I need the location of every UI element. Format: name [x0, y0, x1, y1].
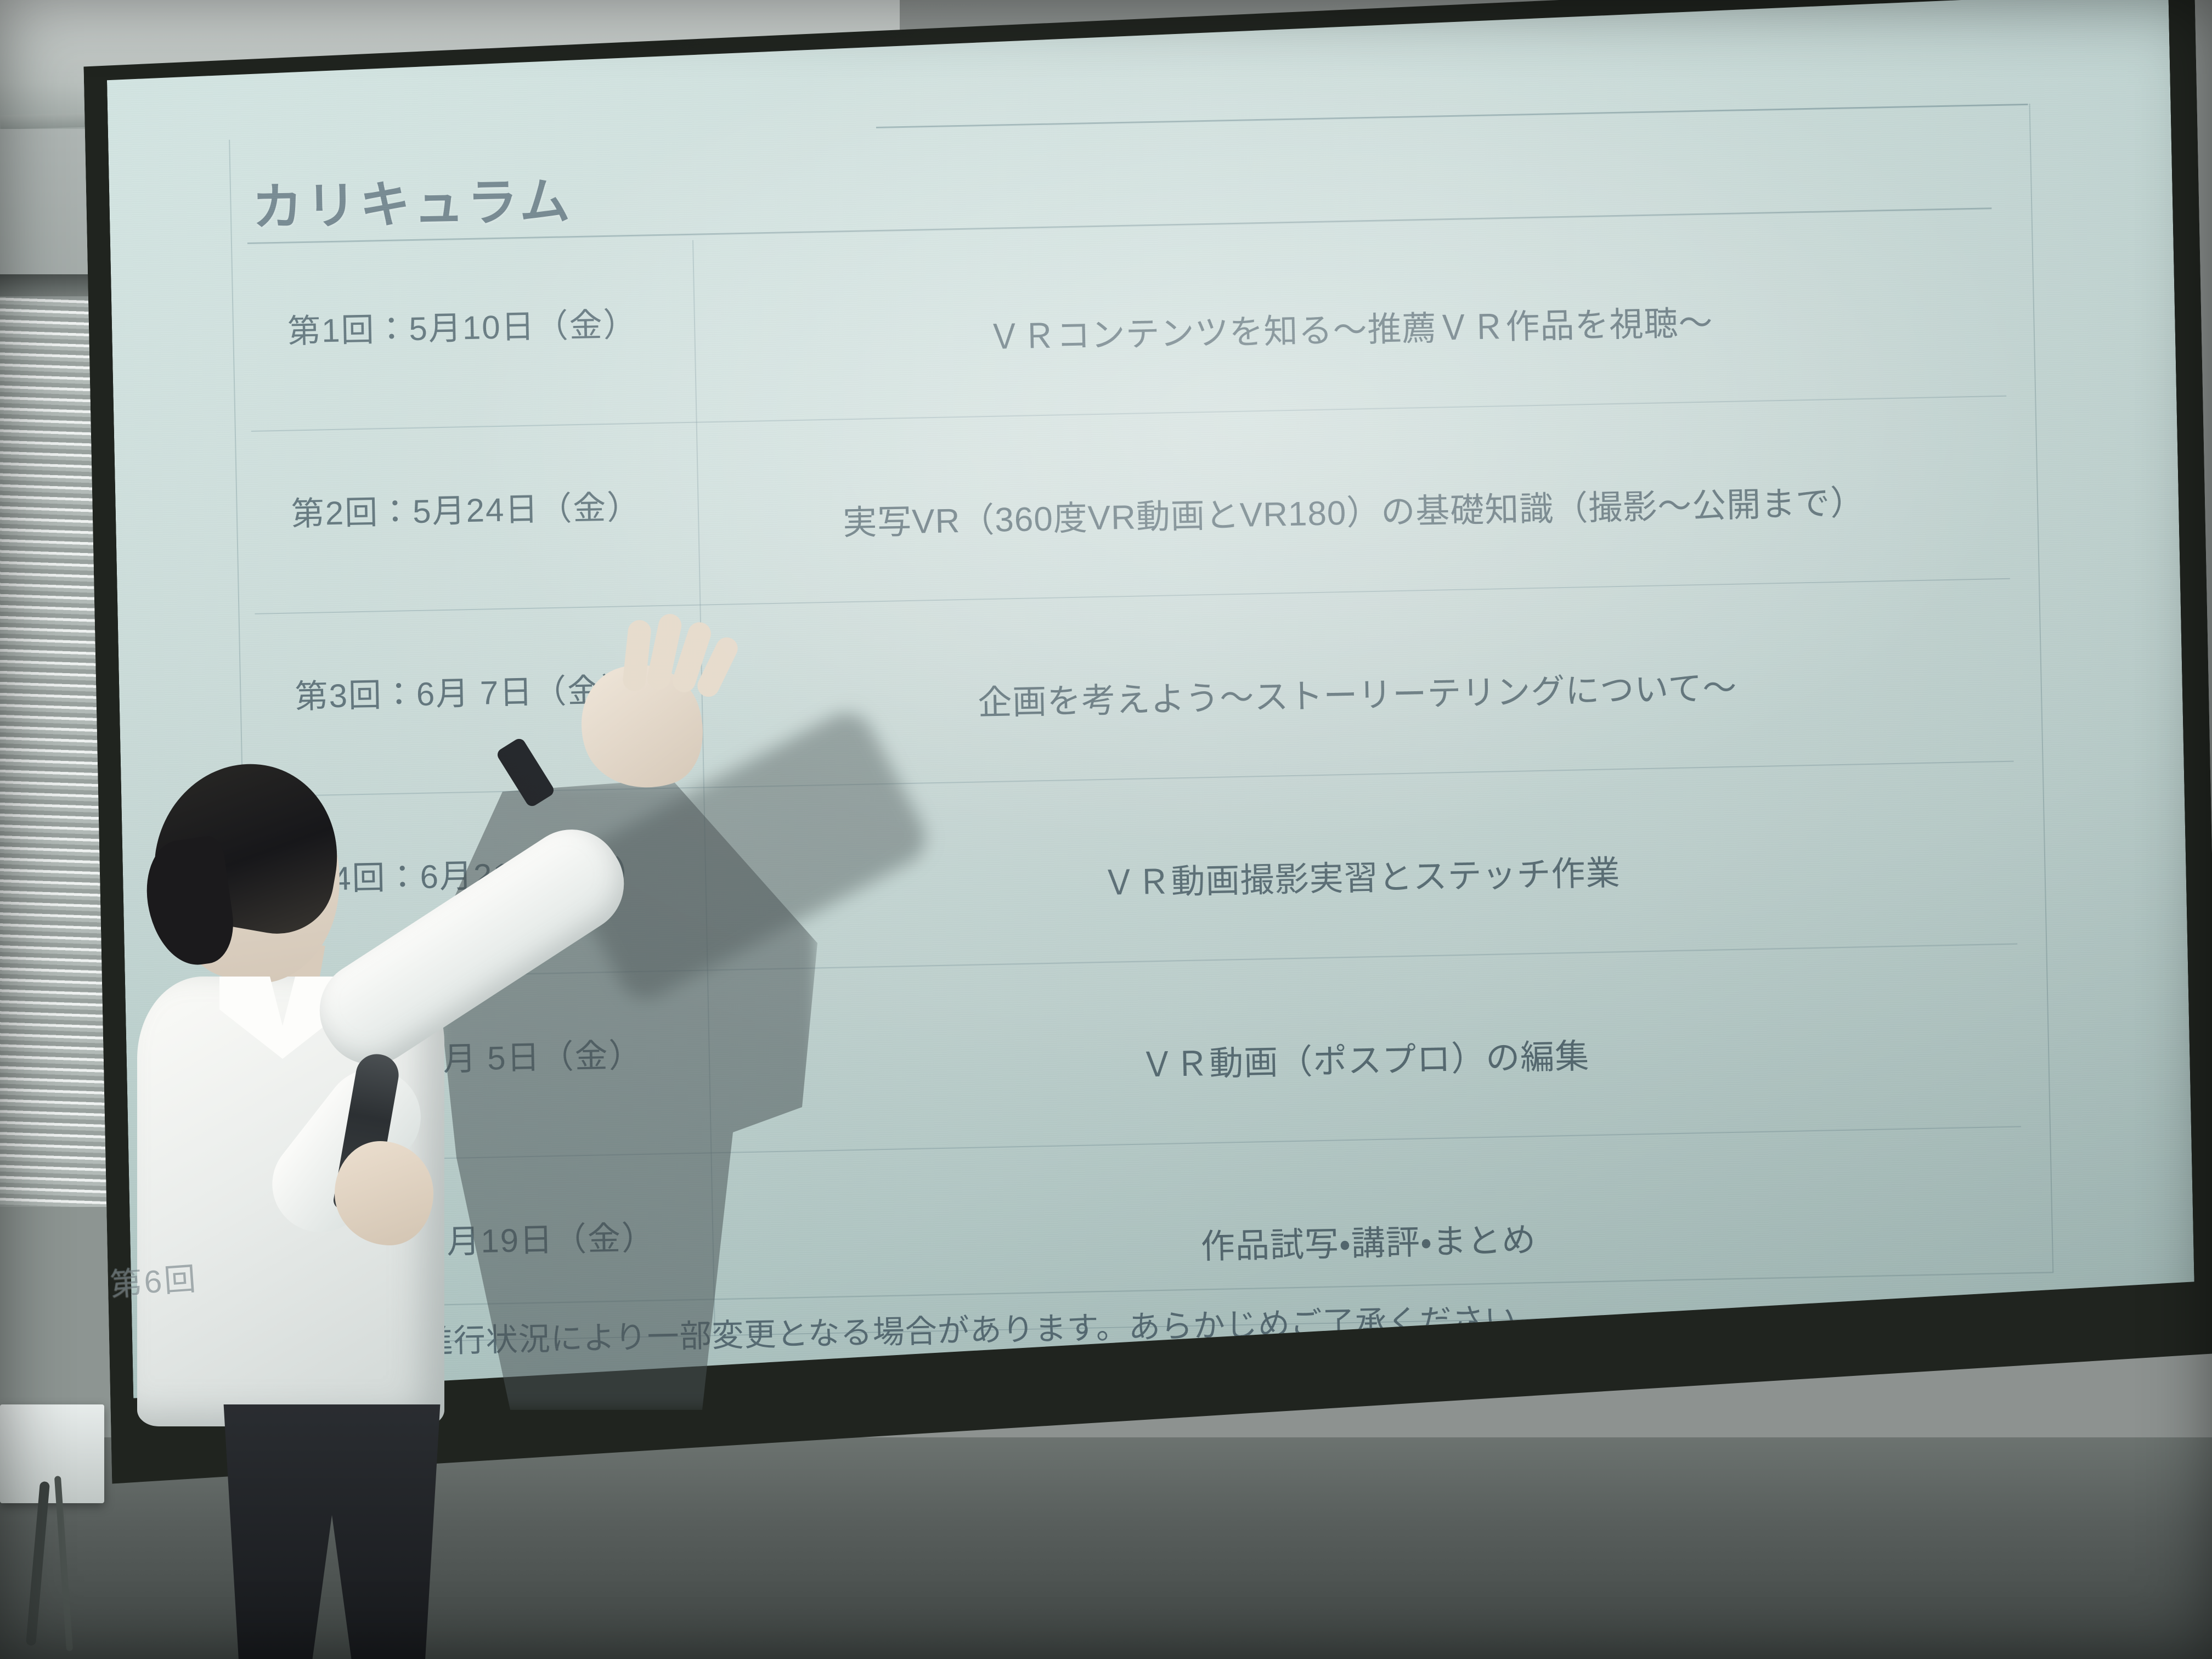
side-desk — [0, 1404, 104, 1503]
photo-scene: カリキュラム 第1回：5月10日（金） ＶＲコンテンツを知る〜推薦ＶＲ作品を視聴… — [0, 0, 2212, 1659]
presenter: 第6回 — [126, 757, 686, 1659]
session-topic: 企画を考えよう〜ストーリーテリングについて〜 — [700, 579, 2013, 788]
presenter-legs — [203, 1404, 461, 1659]
session-label: 第1回：5月10日（金） — [247, 240, 696, 431]
session-topic: ＶＲ動画（ポスプロ）の編集 — [708, 944, 2021, 1153]
session-topic: 実写VR（360度VR動画とVR180）の基礎知識（撮影〜公開まで） — [697, 396, 2010, 605]
slide-title: カリキュラム — [251, 160, 574, 240]
table-row: 第2回：5月24日（金） 実写VR（360度VR動画とVR180）の基礎知識（撮… — [251, 396, 2010, 614]
session-label: 第2回：5月24日（金） — [251, 422, 701, 614]
session-topic: ＶＲコンテンツを知る〜推薦ＶＲ作品を視聴〜 — [693, 214, 2006, 422]
table-row: 第1回：5月10日（金） ＶＲコンテンツを知る〜推薦ＶＲ作品を視聴〜 — [247, 214, 2006, 431]
